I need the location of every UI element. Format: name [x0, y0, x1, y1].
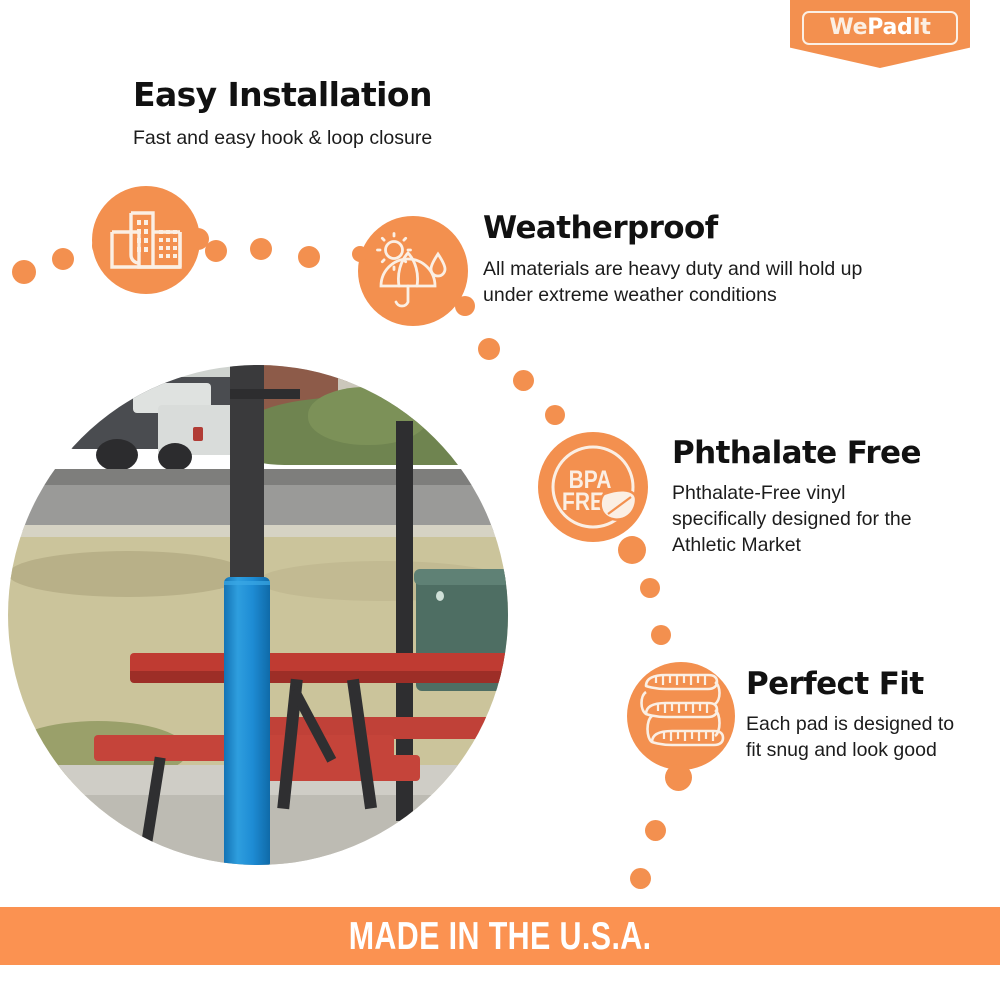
bpa-free-leaf-icon: BPA FREE: [538, 432, 648, 542]
feature-icon-phthalate-free: BPA FREE: [538, 432, 648, 542]
icon-nub: [665, 764, 692, 791]
trail-dot: [478, 338, 500, 360]
trail-dot: [298, 246, 320, 268]
made-in-usa-banner: MADE IN THE U.S.A.: [0, 907, 1000, 965]
feature-icon-perfect-fit: [627, 662, 735, 770]
feature-title: Phthalate Free: [672, 437, 992, 470]
icon-nub: [187, 228, 209, 250]
logo-text-we: We: [829, 15, 867, 40]
photo-suv-wheel: [96, 439, 138, 471]
photo-blue-pole-pad: [224, 577, 270, 865]
feature-title: Weatherproof: [483, 212, 913, 245]
feature-title: Easy Installation: [133, 78, 563, 113]
feature-easy-installation: Easy Installation Fast and easy hook & l…: [133, 78, 563, 151]
building-icon: [109, 210, 183, 270]
icon-nub: [352, 246, 368, 262]
trail-dot: [250, 238, 272, 260]
measuring-tape-icon: [638, 670, 724, 762]
trail-dot: [545, 405, 565, 425]
trail-dot: [205, 240, 227, 262]
trail-dot: [645, 820, 666, 841]
feature-icon-weatherproof: [358, 216, 468, 326]
photo-grass-patch: [8, 551, 248, 597]
trail-dot: [640, 578, 660, 598]
brand-logo: WePadIt: [790, 0, 970, 68]
feature-perfect-fit: Perfect Fit Each pad is designed to fit …: [746, 668, 996, 763]
feature-weatherproof: Weatherproof All materials are heavy dut…: [483, 212, 913, 308]
photo-trash-can-highlight: [436, 591, 444, 601]
product-photo: [8, 365, 508, 865]
photo-table-top-shade: [130, 671, 508, 683]
logo-frame: WePadIt: [802, 11, 958, 45]
logo-text: WePadIt: [829, 17, 930, 39]
logo-text-it: It: [912, 15, 930, 40]
feature-description: Each pad is designed to fit snug and loo…: [746, 711, 971, 763]
feature-icon-easy-installation: [92, 186, 200, 294]
logo-text-pad: Pad: [867, 15, 912, 40]
feature-description: Fast and easy hook & loop closure: [133, 125, 563, 151]
feature-description: Phthalate-Free vinyl specifically design…: [672, 480, 930, 558]
photo-suv-wheel: [158, 443, 192, 471]
photo-pole-bracket: [230, 389, 300, 399]
feature-title: Perfect Fit: [746, 668, 996, 701]
leaf-shape: [601, 490, 636, 519]
trail-dot: [12, 260, 36, 284]
photo-blue-pole-pad-seam: [224, 581, 270, 585]
icon-nub: [455, 296, 475, 316]
trail-dot: [513, 370, 534, 391]
feature-description: All materials are heavy duty and will ho…: [483, 256, 883, 308]
made-in-usa-text: MADE IN THE U.S.A.: [349, 917, 652, 956]
icon-nub: [618, 536, 646, 564]
trail-dot: [52, 248, 74, 270]
photo-trash-can-rim: [414, 569, 508, 585]
trail-dot: [630, 868, 651, 889]
umbrella-sun-rain-icon: [372, 233, 454, 309]
trail-dot: [651, 625, 671, 645]
feature-phthalate-free: Phthalate Free Phthalate-Free vinyl spec…: [672, 437, 992, 558]
photo-suv-tail-light: [193, 427, 203, 441]
